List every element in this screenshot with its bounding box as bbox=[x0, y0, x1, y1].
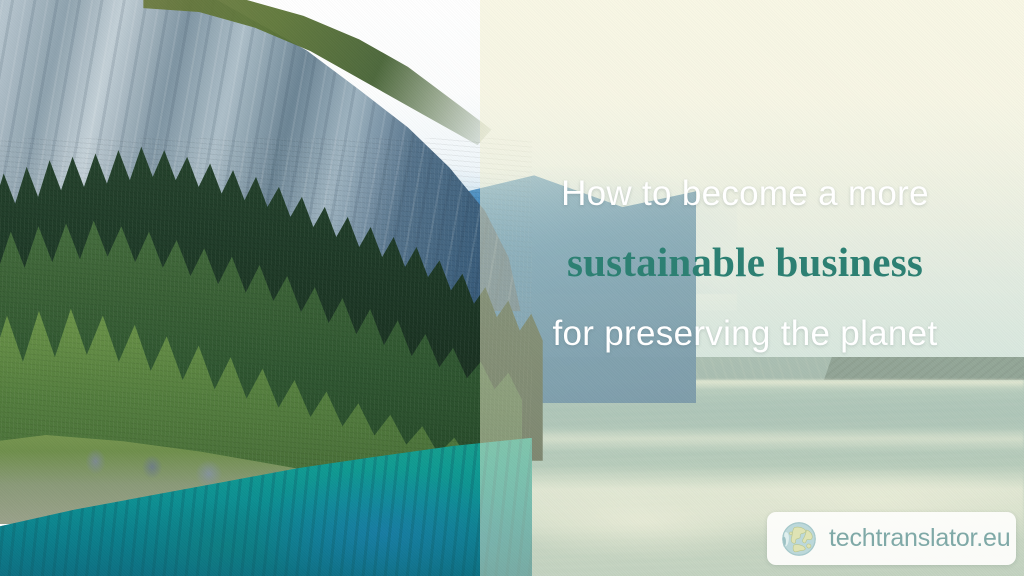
forest-texture bbox=[0, 138, 532, 484]
brand-logo-badge[interactable]: techtranslator.eu bbox=[767, 512, 1016, 565]
hero-banner: How to become a more sustainable busines… bbox=[0, 0, 1024, 576]
background-photo bbox=[0, 0, 1024, 576]
brand-name: techtranslator.eu bbox=[829, 524, 1010, 553]
globe-europe-icon bbox=[781, 521, 817, 557]
